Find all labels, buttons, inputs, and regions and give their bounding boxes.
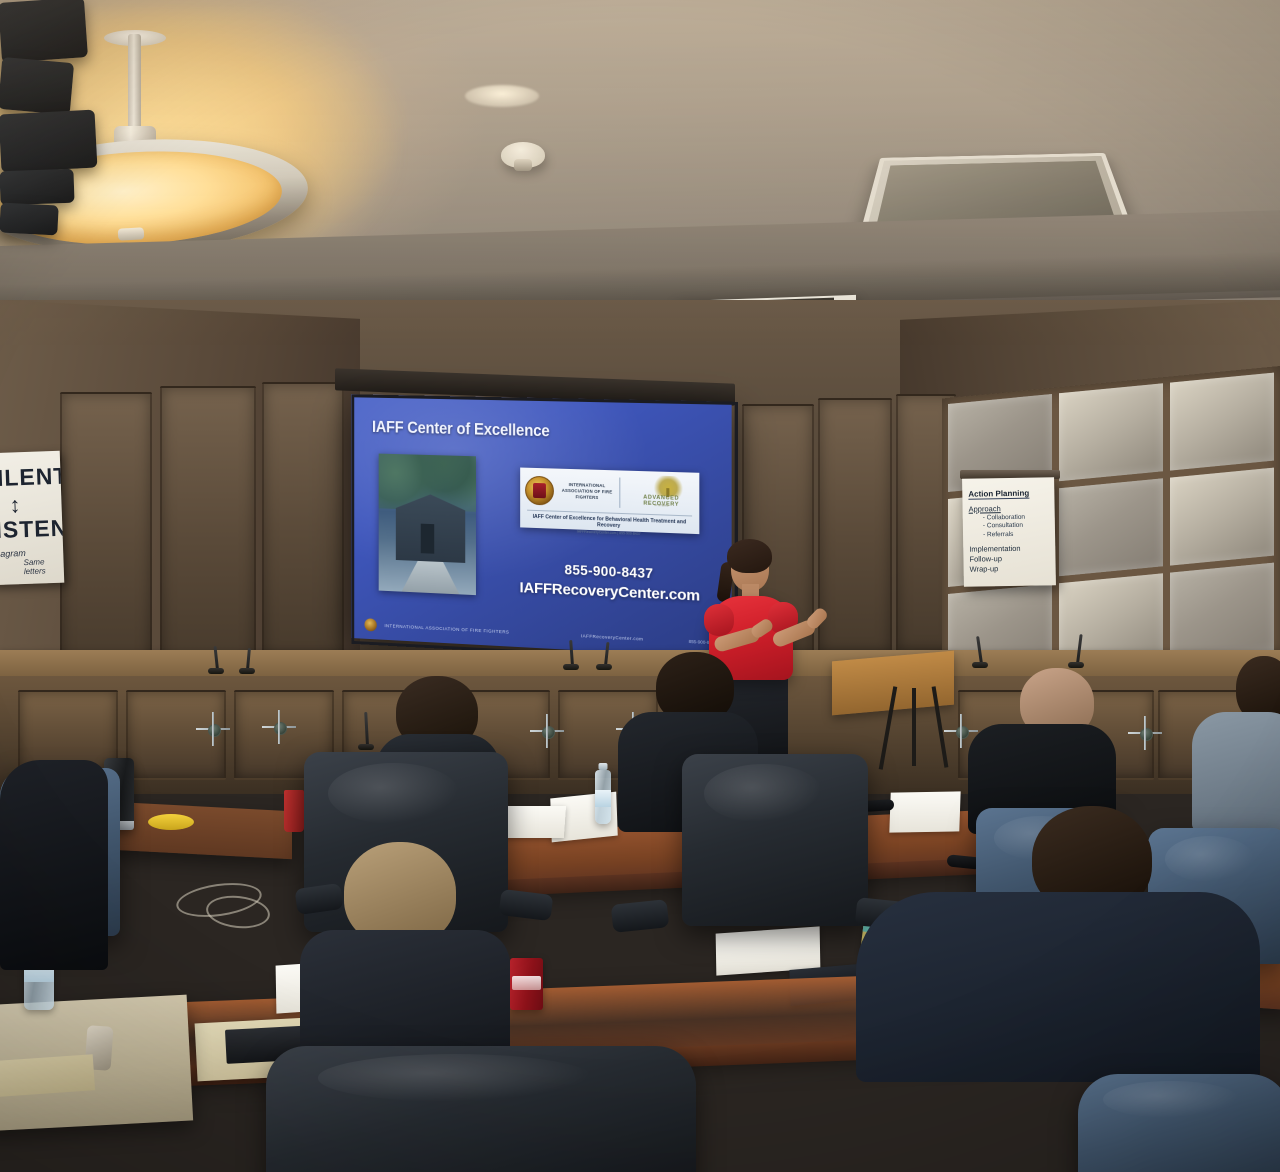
dais-counter	[0, 650, 1280, 676]
photo-scene: SILENT ↕ LISTEN Anagram Same letters Act…	[0, 0, 1280, 1172]
window-pane	[1059, 478, 1163, 576]
poster-line-1: SILENT	[0, 462, 64, 492]
wall-panel	[262, 382, 344, 658]
wall-panel	[160, 386, 256, 668]
bag-on-dais	[0, 203, 59, 236]
microphone-base	[1068, 662, 1084, 668]
slide-building-photo	[379, 454, 476, 596]
microphone-base	[596, 664, 612, 670]
tree-icon	[651, 475, 686, 496]
microphone-base	[563, 664, 579, 670]
dais-star-hardware	[262, 710, 296, 744]
tripod-leg	[912, 688, 916, 766]
chair-arm	[611, 899, 670, 933]
flipchart-bullet: - Referrals	[983, 530, 1049, 540]
presenter-hair	[727, 539, 772, 573]
chair-highlight	[328, 763, 459, 824]
photo-walkway	[402, 560, 460, 594]
attendee-body	[300, 930, 510, 1060]
smoke-detector-icon	[501, 142, 545, 168]
flipchart-item: Wrap-up	[970, 563, 1050, 574]
chair-highlight	[1103, 1081, 1239, 1118]
sunglasses	[864, 799, 895, 812]
microphone-base	[208, 668, 224, 674]
recessed-downlight	[465, 85, 539, 107]
silent-listen-poster: SILENT ↕ LISTEN Anagram Same letters	[0, 451, 64, 586]
flipchart-title: Action Planning	[968, 489, 1029, 500]
poster-arrow-icon: ↕	[9, 492, 21, 518]
wall-panel	[818, 398, 892, 654]
attendee-body	[856, 892, 1260, 1082]
chair-highlight	[1165, 836, 1255, 882]
iaff-seal-icon	[525, 475, 554, 505]
slide-logo-card: INTERNATIONAL ASSOCIATION OF FIRE FIGHTE…	[520, 468, 699, 535]
backpack	[0, 0, 88, 63]
red-cup	[284, 790, 304, 832]
chair-highlight	[704, 764, 823, 822]
chair-highlight	[318, 1054, 593, 1102]
logo-divider	[619, 478, 620, 508]
slide-surface: IAFF Center of Excellence INTERNATIONAL …	[351, 394, 731, 658]
footer-left-text: INTERNATIONAL ASSOCIATION OF FIRE FIGHTE…	[384, 623, 509, 634]
projection-screen: IAFF Center of Excellence INTERNATIONAL …	[351, 394, 731, 658]
fabric-chair[interactable]	[1078, 1074, 1280, 1172]
backpack	[0, 110, 97, 173]
handout-paper	[889, 791, 960, 832]
microphone-base	[239, 668, 255, 674]
iaff-wordmark: INTERNATIONAL ASSOCIATION OF FIRE FIGHTE…	[559, 481, 615, 502]
dr-pepper-can	[510, 958, 543, 1010]
footer-center-text: IAFFRecoveryCenter.com	[581, 633, 643, 641]
window-pane	[1059, 383, 1163, 481]
dais-star-hardware	[196, 712, 230, 746]
wall-panel	[60, 392, 152, 672]
attendee-body	[1192, 712, 1280, 832]
bottle-cap	[599, 763, 608, 770]
attendee-body	[0, 760, 108, 970]
poster-line-2: LISTEN	[0, 515, 64, 545]
dais-star-hardware	[530, 714, 564, 748]
flipchart-action-planning: Action Planning Approach - Collaboration…	[962, 477, 1056, 587]
bag-on-dais	[0, 169, 75, 206]
backpack	[0, 57, 74, 115]
yellow-disc	[148, 814, 194, 830]
leather-chair[interactable]	[266, 1046, 696, 1172]
poster-note-2: Same letters	[23, 557, 64, 576]
leather-chair[interactable]	[682, 754, 868, 926]
dais-star-hardware	[1128, 716, 1162, 750]
window-pane	[1170, 563, 1274, 661]
window-pane	[1170, 373, 1274, 471]
handout-paper	[504, 806, 566, 838]
microphone-base	[972, 662, 988, 668]
water-bottle	[595, 770, 611, 824]
logo-row: INTERNATIONAL ASSOCIATION OF FIRE FIGHTE…	[525, 472, 694, 514]
photo-door	[421, 524, 434, 554]
floor-cable	[205, 893, 272, 932]
pendant-finial	[118, 227, 145, 240]
bottle-label	[595, 790, 611, 807]
ars-logo: ADVANCED RECOVERY SYSTEMS	[624, 475, 694, 514]
poster-note-1: Anagram	[0, 548, 26, 559]
presenter-sleeve-left	[704, 604, 734, 636]
microphone-base	[358, 744, 374, 750]
footer-seal-icon	[364, 618, 376, 631]
window-pane	[1170, 468, 1274, 566]
